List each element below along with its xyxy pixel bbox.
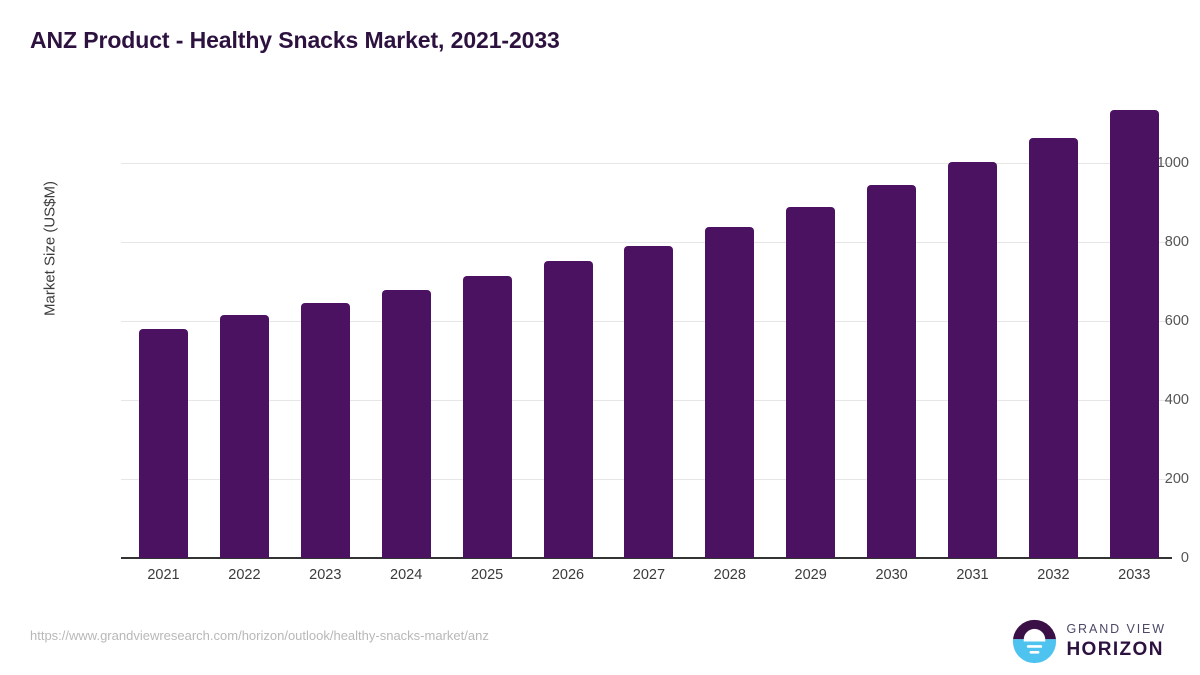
x-tick-label-2022: 2022 [204, 567, 284, 583]
bar-2025[interactable] [463, 276, 512, 558]
bar-2023[interactable] [301, 303, 350, 558]
bar-2031[interactable] [948, 162, 997, 558]
horizon-sun-circle-icon [1012, 619, 1057, 664]
bar-2033[interactable] [1110, 110, 1159, 558]
x-tick-label-2030: 2030 [852, 567, 932, 583]
source-url[interactable]: https://www.grandviewresearch.com/horizo… [30, 628, 489, 643]
bar-2032[interactable] [1029, 138, 1078, 558]
bar-2030[interactable] [867, 185, 916, 558]
bar-2029[interactable] [786, 207, 835, 558]
x-tick-label-2021: 2021 [124, 567, 204, 583]
bar-2024[interactable] [382, 290, 431, 558]
bar-2021[interactable] [139, 329, 188, 558]
x-tick-label-2024: 2024 [366, 567, 446, 583]
x-tick-label-2028: 2028 [690, 567, 770, 583]
x-tick-label-2032: 2032 [1013, 567, 1093, 583]
chart-page: ANZ Product - Healthy Snacks Market, 202… [0, 0, 1200, 675]
bar-2026[interactable] [544, 261, 593, 558]
x-tick-label-2026: 2026 [528, 567, 608, 583]
bar-2028[interactable] [705, 227, 754, 558]
logo-line-2: HORIZON [1066, 640, 1166, 659]
bar-2027[interactable] [624, 246, 673, 558]
logo-line-1: GRAND VIEW [1066, 623, 1166, 636]
grand-view-horizon-logo: GRAND VIEW HORIZON [1012, 618, 1166, 664]
x-tick-label-2023: 2023 [285, 567, 365, 583]
x-tick-label-2033: 2033 [1094, 567, 1174, 583]
x-tick-label-2029: 2029 [771, 567, 851, 583]
x-tick-label-2027: 2027 [609, 567, 689, 583]
x-tick-label-2031: 2031 [933, 567, 1013, 583]
plot-area: Market Size (US$M) 02004006008001000 202… [0, 0, 1200, 675]
bar-2022[interactable] [220, 315, 269, 558]
logo-wordmark: GRAND VIEW HORIZON [1066, 623, 1166, 659]
x-tick-label-2025: 2025 [447, 567, 527, 583]
